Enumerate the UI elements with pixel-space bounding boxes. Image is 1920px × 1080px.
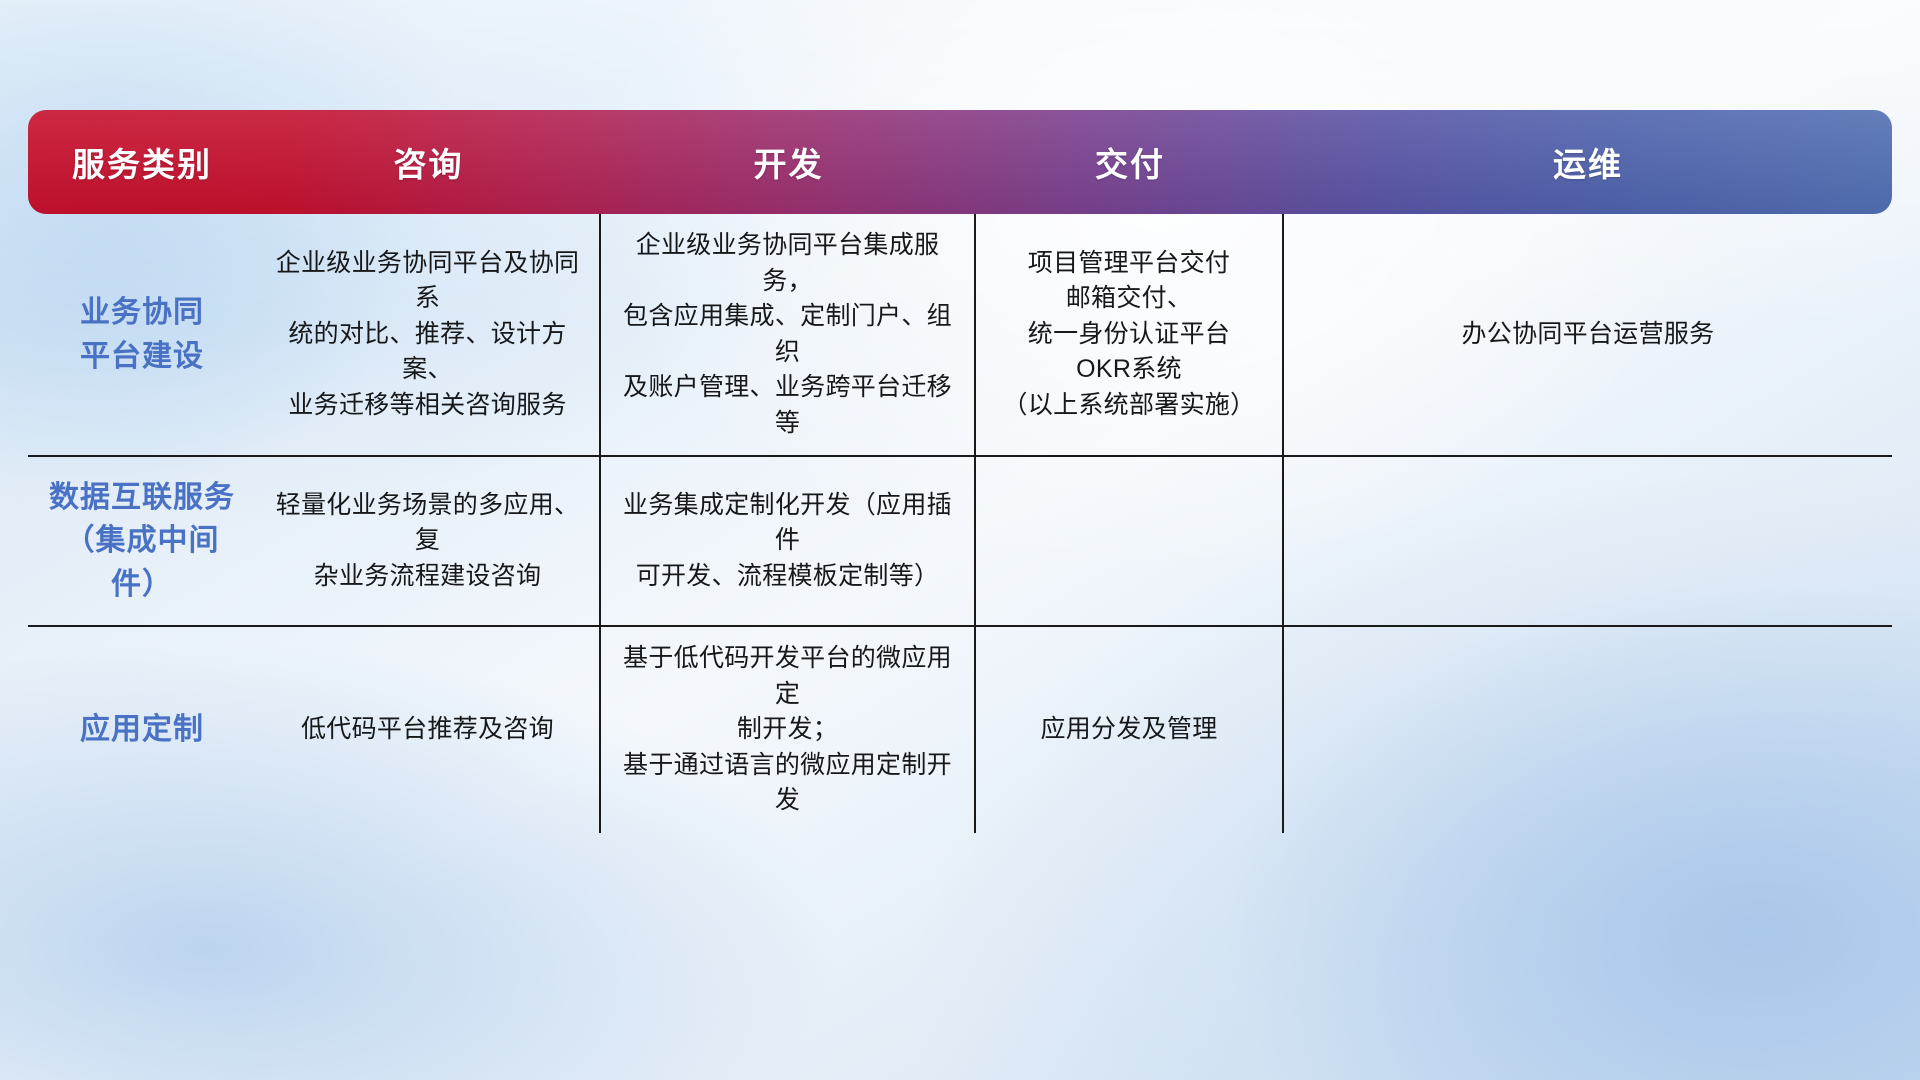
- cell-operate-row3: [1284, 627, 1892, 833]
- cell-deliver-row2: [976, 457, 1284, 625]
- cell-consult-row1: 企业级业务协同平台及协同系 统的对比、推荐、设计方案、 业务迁移等相关咨询服务: [256, 214, 601, 455]
- cell-operate-row2: [1284, 457, 1892, 625]
- cell-operate-row1: 办公协同平台运营服务: [1284, 214, 1892, 455]
- cell-deliver-row1: 项目管理平台交付 邮箱交付、 统一身份认证平台 OKR系统 （以上系统部署实施）: [976, 214, 1284, 455]
- column-header-deliver: 交付: [976, 110, 1284, 214]
- cell-consult-row2: 轻量化业务场景的多应用、复 杂业务流程建设咨询: [256, 457, 601, 625]
- cell-develop-row3: 基于低代码开发平台的微应用定 制开发； 基于通过语言的微应用定制开发: [601, 627, 976, 833]
- table-header-row: 服务类别 咨询 开发 交付 运维: [28, 110, 1892, 214]
- row-label-business-collaboration: 业务协同 平台建设: [28, 214, 256, 455]
- row-label-data-interconnect: 数据互联服务 （集成中间件）: [28, 457, 256, 625]
- column-header-operate: 运维: [1284, 110, 1892, 214]
- row-label-app-customization: 应用定制: [28, 627, 256, 833]
- column-header-develop: 开发: [601, 110, 976, 214]
- table-body: 业务协同 平台建设 企业级业务协同平台及协同系 统的对比、推荐、设计方案、 业务…: [28, 214, 1892, 833]
- column-header-consult: 咨询: [256, 110, 601, 214]
- table-row: 业务协同 平台建设 企业级业务协同平台及协同系 统的对比、推荐、设计方案、 业务…: [28, 214, 1892, 455]
- service-matrix-table: 服务类别 咨询 开发 交付 运维 业务协同 平台建设 企业级业务协同平台及协同系…: [28, 110, 1892, 833]
- cell-deliver-row3: 应用分发及管理: [976, 627, 1284, 833]
- table-row: 应用定制 低代码平台推荐及咨询 基于低代码开发平台的微应用定 制开发； 基于通过…: [28, 625, 1892, 833]
- cell-develop-row2: 业务集成定制化开发（应用插件 可开发、流程模板定制等）: [601, 457, 976, 625]
- table-row: 数据互联服务 （集成中间件） 轻量化业务场景的多应用、复 杂业务流程建设咨询 业…: [28, 455, 1892, 625]
- cell-consult-row3: 低代码平台推荐及咨询: [256, 627, 601, 833]
- column-header-category: 服务类别: [28, 110, 256, 214]
- cell-develop-row1: 企业级业务协同平台集成服务， 包含应用集成、定制门户、组织 及账户管理、业务跨平…: [601, 214, 976, 455]
